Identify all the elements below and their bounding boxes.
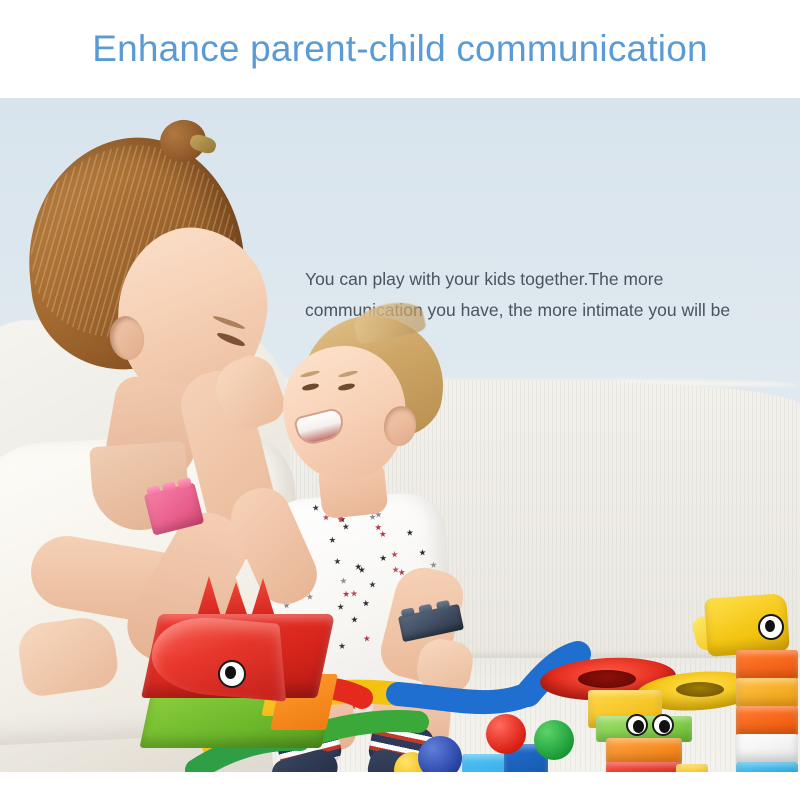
robot-eye-left — [626, 714, 648, 736]
giraffe-eye — [758, 614, 784, 640]
yellow-funnel-hole — [676, 682, 724, 697]
red-block — [606, 762, 682, 772]
marble-blue — [418, 736, 462, 772]
header-band: Enhance parent-child communication — [0, 0, 800, 98]
page-title: Enhance parent-child communication — [0, 27, 800, 71]
marble-red — [486, 714, 526, 754]
dinosaur-eye — [218, 660, 246, 688]
light-blue-block — [736, 762, 798, 772]
yellow-block — [676, 764, 708, 772]
orange-block — [736, 706, 798, 736]
yellow-block — [736, 678, 798, 708]
promo-banner: Enhance parent-child communication You c… — [0, 0, 800, 800]
orange-block — [736, 650, 798, 680]
white-block — [736, 734, 798, 764]
marble-run-toy-set — [0, 98, 800, 772]
orange-block — [606, 738, 682, 764]
marble-track-rails — [0, 98, 800, 772]
lifestyle-photo: You can play with your kids together.The… — [0, 98, 800, 772]
footer-band — [0, 772, 800, 800]
robot-eye-right — [652, 714, 674, 736]
marble-green — [534, 720, 574, 760]
red-funnel-hole — [578, 670, 636, 688]
